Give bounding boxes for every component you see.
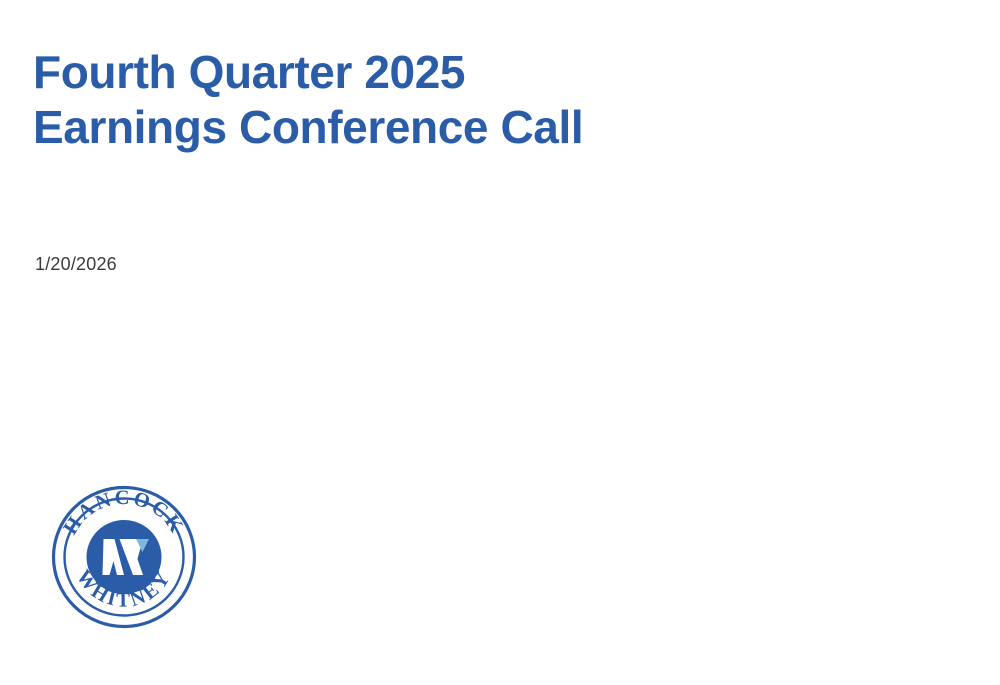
- title-line-1: Fourth Quarter 2025: [33, 45, 853, 100]
- page-title: Fourth Quarter 2025 Earnings Conference …: [33, 45, 853, 155]
- title-line-2: Earnings Conference Call: [33, 100, 853, 155]
- presentation-date: 1/20/2026: [35, 252, 117, 276]
- title-slide: Fourth Quarter 2025 Earnings Conference …: [0, 0, 1000, 685]
- hancock-whitney-logo: HANCOCK WHITNEY: [50, 484, 198, 630]
